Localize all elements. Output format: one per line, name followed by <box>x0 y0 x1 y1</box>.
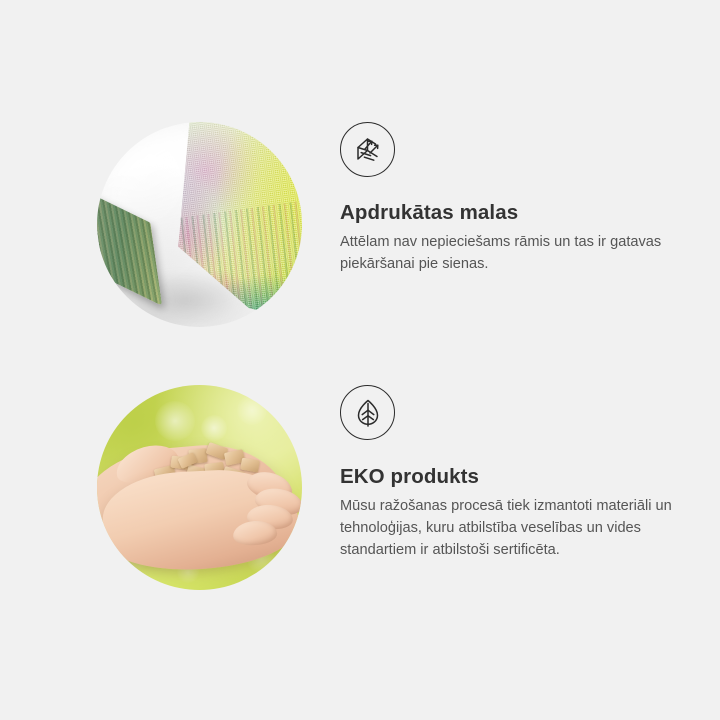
printed-edge-arrow-icon <box>340 122 395 177</box>
hands-wood-chips-photo <box>97 385 302 590</box>
wood-chip <box>240 458 260 473</box>
bokeh-highlight <box>155 401 195 441</box>
feature-description: Mūsu ražošanas procesā tiek izmantoti ma… <box>340 489 676 562</box>
canvas-corner-photo <box>97 122 302 327</box>
product-feature-panel: Apdrukātas malas Attēlam nav nepieciešam… <box>0 0 720 720</box>
printed-edges-text-column: Apdrukātas malas Attēlam nav nepieciešam… <box>340 122 686 276</box>
leaf-icon <box>340 385 395 440</box>
feature-title: EKO produkts <box>340 440 686 489</box>
eco-product-text-column: EKO produkts Mūsu ražošanas procesā tiek… <box>340 385 686 562</box>
feature-title: Apdrukātas malas <box>340 177 686 225</box>
bokeh-highlight <box>237 395 267 425</box>
feature-description: Attēlam nav nepieciešams rāmis un tas ir… <box>340 225 676 276</box>
